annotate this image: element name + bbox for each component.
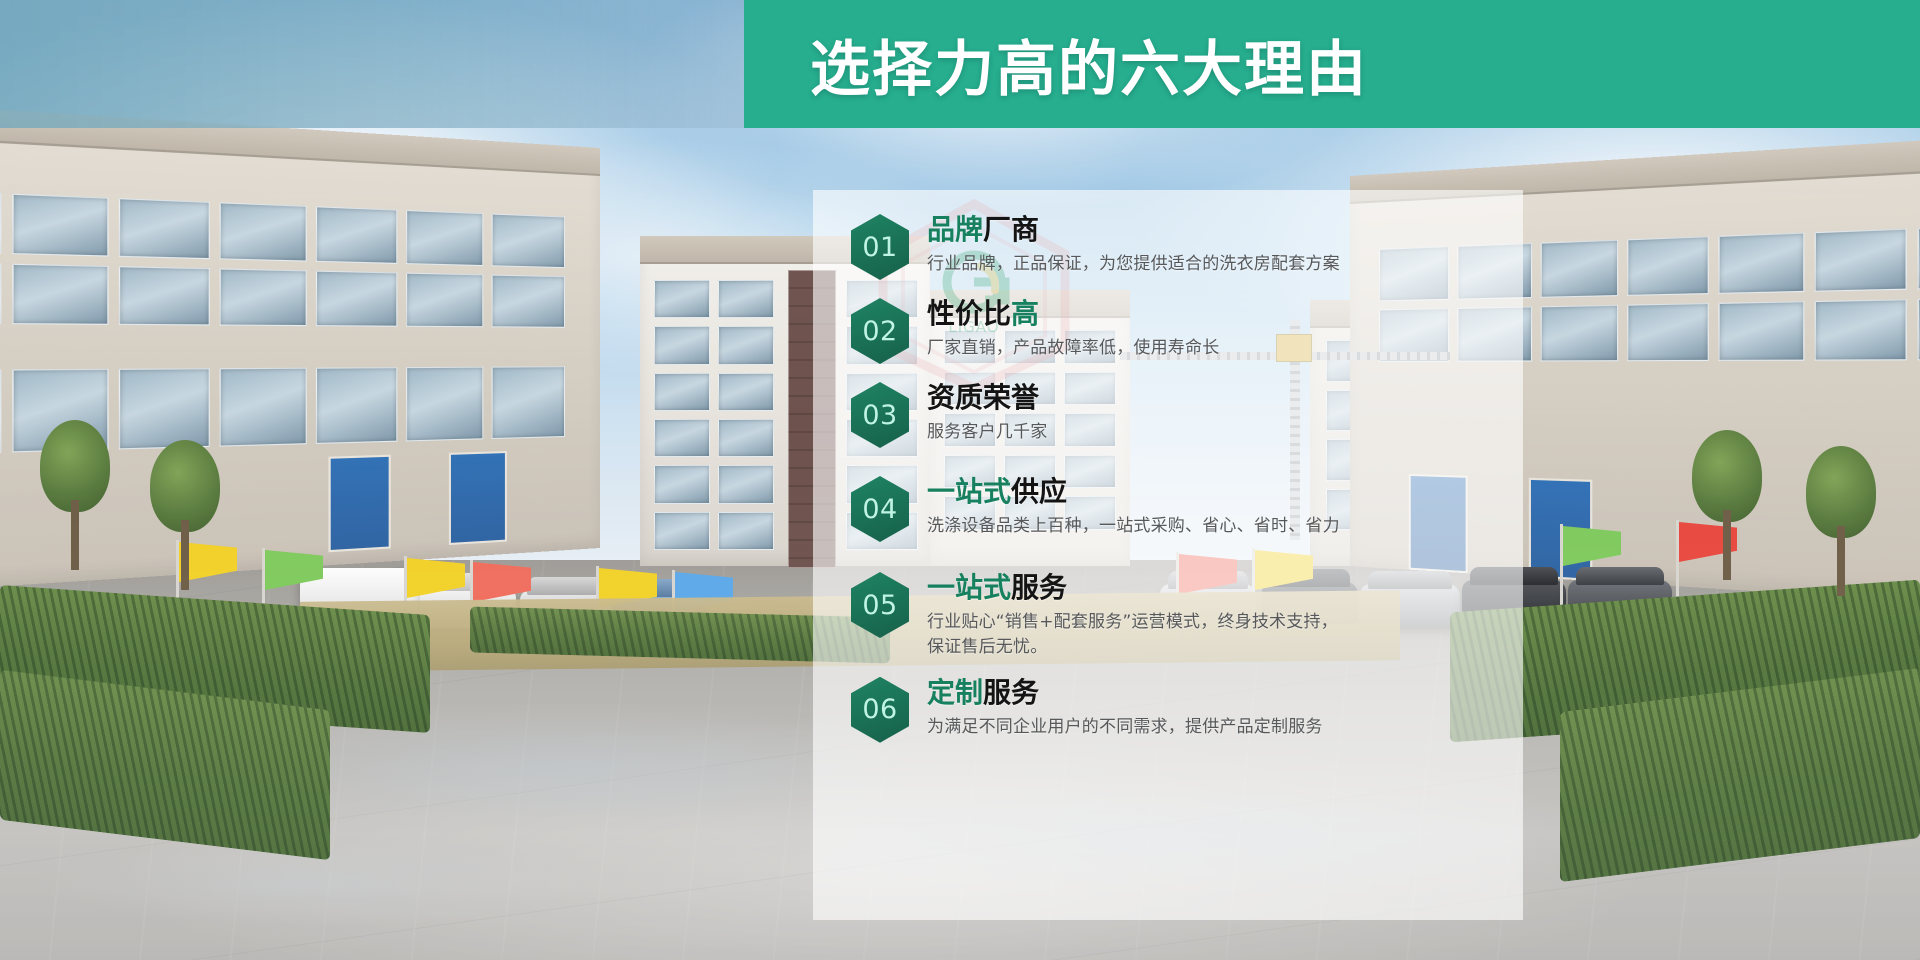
window	[654, 373, 710, 411]
window	[718, 373, 774, 411]
item-title-accent: 高	[1011, 297, 1039, 330]
window	[406, 367, 483, 442]
window	[654, 326, 710, 364]
item-body: 定制服务 为满足不同企业用户的不同需求，提供产品定制服务	[927, 675, 1323, 740]
window	[0, 369, 2, 455]
window	[220, 268, 306, 326]
item-description: 行业贴心“销售+配套服务”运营模式，终身技术支持， 保证售后无忧。	[927, 610, 1338, 658]
list-item[interactable]: 03 资质荣誉 服务客户几千家	[851, 380, 1493, 448]
list-item[interactable]: 05 一站式服务 行业贴心“销售+配套服务”运营模式，终身技术支持， 保证售后无…	[851, 570, 1493, 659]
item-title-accent: 一站式	[927, 475, 1011, 508]
item-number-badge: 01	[851, 214, 909, 280]
item-title-accent: 品牌	[927, 213, 983, 246]
item-body: 品牌厂商 行业品牌，正品保证，为您提供适合的洗衣房配套方案	[927, 212, 1340, 277]
item-title-main: 性价比	[927, 297, 1011, 330]
window	[654, 512, 710, 550]
window	[12, 264, 109, 325]
item-title-main: 服务	[983, 676, 1039, 709]
window	[491, 366, 565, 439]
window	[718, 512, 774, 550]
window	[491, 275, 565, 328]
window	[220, 368, 306, 447]
item-description: 厂家直销，产品故障率低，使用寿命长	[927, 336, 1219, 360]
window	[718, 326, 774, 364]
decor-flag	[1560, 524, 1563, 610]
reasons-list: 01 品牌厂商 行业品牌，正品保证，为您提供适合的洗衣房配套方案 02 性价比高	[813, 190, 1523, 920]
item-description: 服务客户几千家	[927, 420, 1047, 444]
window	[0, 189, 2, 254]
item-title: 性价比高	[927, 298, 1219, 330]
blue-door	[328, 455, 390, 553]
window	[654, 280, 710, 318]
item-description: 为满足不同企业用户的不同需求，提供产品定制服务	[927, 715, 1323, 739]
item-number-badge: 03	[851, 382, 909, 448]
item-description: 洗涤设备品类上百种，一站式采购、省心、省时、省力	[927, 514, 1340, 538]
window	[315, 367, 397, 444]
window	[654, 419, 710, 457]
window	[12, 194, 109, 257]
list-item[interactable]: 01 品牌厂商 行业品牌，正品保证，为您提供适合的洗衣房配套方案	[851, 212, 1493, 280]
list-item[interactable]: 04 一站式供应 洗涤设备品类上百种，一站式采购、省心、省时、省力	[851, 474, 1493, 542]
item-title: 资质荣誉	[927, 382, 1047, 414]
window	[1719, 232, 1805, 293]
window	[491, 214, 565, 269]
window	[718, 465, 774, 503]
window	[119, 266, 210, 325]
list-item[interactable]: 06 定制服务 为满足不同企业用户的不同需求，提供产品定制服务	[851, 675, 1493, 743]
item-body: 资质荣誉 服务客户几千家	[927, 380, 1047, 445]
item-title-main: 供应	[1011, 475, 1067, 508]
window	[1719, 301, 1805, 361]
item-title-main: 资质荣誉	[927, 381, 1039, 414]
item-title: 定制服务	[927, 677, 1323, 709]
item-title: 品牌厂商	[927, 214, 1340, 246]
item-description-line: 行业贴心“销售+配套服务”运营模式，终身技术支持，	[927, 610, 1338, 634]
window	[1540, 305, 1618, 362]
item-number-badge: 06	[851, 677, 909, 743]
window	[0, 261, 2, 324]
blue-door	[449, 451, 507, 545]
tree	[40, 420, 110, 570]
list-item[interactable]: 02 性价比高 厂家直销，产品故障率低，使用寿命长	[851, 296, 1493, 364]
promo-banner-stage: 选择力高的六大理由 LIGAO 01 品牌厂商 行业品牌，正品保证，为您提供	[0, 0, 1920, 960]
window-grid	[654, 280, 774, 550]
item-title-accent: 一站式	[927, 571, 1011, 604]
item-description-line: 洗涤设备品类上百种，一站式采购、省心、省时、省力	[927, 516, 1340, 536]
item-description: 行业品牌，正品保证，为您提供适合的洗衣房配套方案	[927, 252, 1340, 276]
decor-flag	[1676, 520, 1679, 606]
window	[315, 206, 397, 264]
title-banner: 选择力高的六大理由	[0, 0, 1920, 128]
window	[1815, 299, 1906, 360]
item-number-badge: 05	[851, 572, 909, 638]
item-title-main: 厂商	[983, 213, 1039, 246]
window	[119, 198, 210, 259]
window	[1815, 229, 1906, 292]
reasons-panel: LIGAO 01 品牌厂商 行业品牌，正品保证，为您提供适合的洗衣房配套方案 0…	[813, 190, 1523, 920]
item-body: 性价比高 厂家直销，产品故障率低，使用寿命长	[927, 296, 1219, 361]
tree	[150, 440, 220, 590]
item-description-line: 行业品牌，正品保证，为您提供适合的洗衣房配套方案	[927, 254, 1340, 274]
window	[1627, 236, 1709, 296]
window	[406, 273, 483, 328]
window	[406, 210, 483, 266]
window	[315, 271, 397, 327]
item-body: 一站式服务 行业贴心“销售+配套服务”运营模式，终身技术支持， 保证售后无忧。	[927, 570, 1338, 659]
item-title: 一站式服务	[927, 572, 1338, 604]
window	[119, 368, 210, 449]
item-number-badge: 02	[851, 298, 909, 364]
banner-left-gradient	[0, 0, 744, 128]
tree	[1806, 446, 1876, 596]
item-title-accent: 定制	[927, 676, 983, 709]
window	[220, 202, 306, 261]
page-title: 选择力高的六大理由	[810, 0, 1368, 128]
item-title-main: 服务	[1011, 571, 1067, 604]
item-body: 一站式供应 洗涤设备品类上百种，一站式采购、省心、省时、省力	[927, 474, 1340, 539]
window	[718, 280, 774, 318]
tree	[1692, 430, 1762, 580]
window	[654, 465, 710, 503]
item-description-line: 厂家直销，产品故障率低，使用寿命长	[927, 338, 1219, 358]
item-description-line: 保证售后无忧。	[927, 635, 1338, 659]
item-title: 一站式供应	[927, 476, 1340, 508]
item-description-line: 为满足不同企业用户的不同需求，提供产品定制服务	[927, 717, 1323, 737]
window	[1540, 240, 1618, 298]
window	[1627, 303, 1709, 361]
window	[718, 419, 774, 457]
item-number-badge: 04	[851, 476, 909, 542]
item-description-line: 服务客户几千家	[927, 422, 1047, 442]
window-grid	[0, 189, 565, 328]
